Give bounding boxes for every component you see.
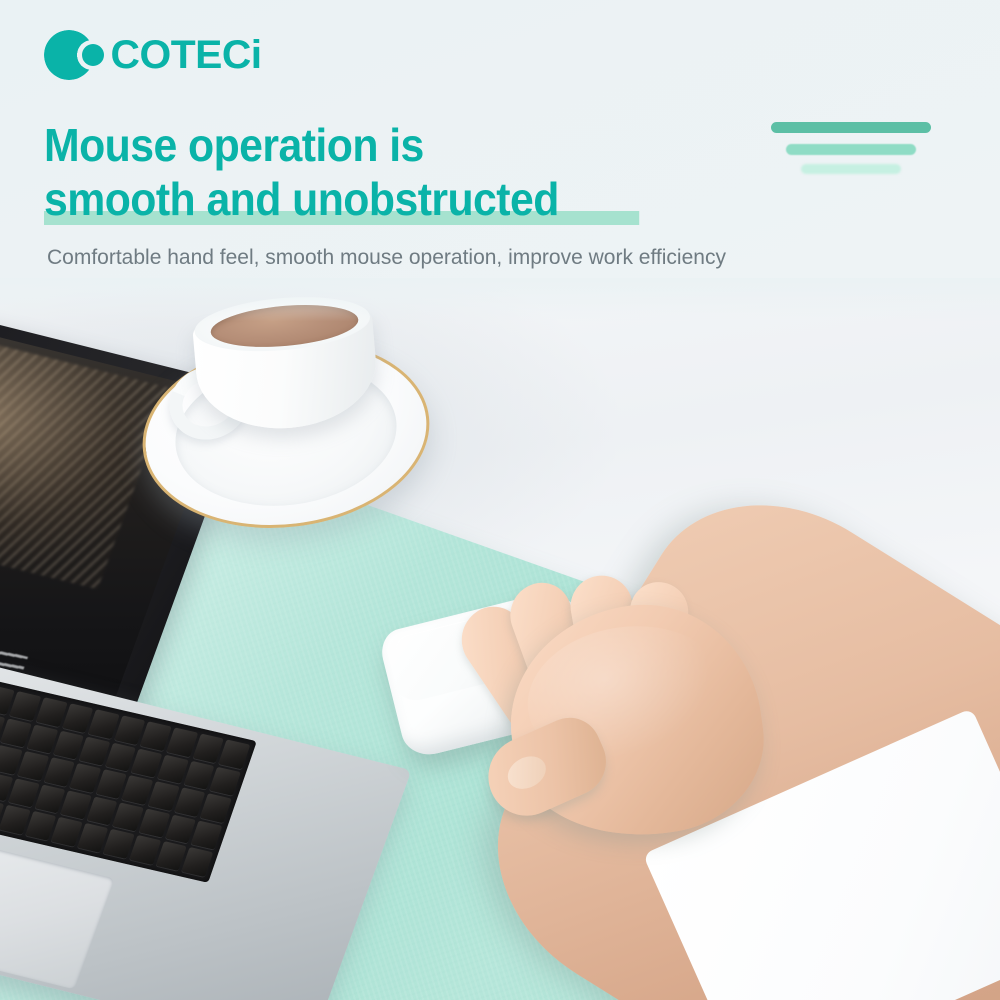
laptop-trackpad: [0, 836, 115, 990]
keyboard-key: [200, 793, 232, 823]
keyboard-key: [8, 778, 40, 808]
subtitle: Comfortable hand feel, smooth mouse oper…: [47, 244, 726, 272]
coteci-circle-logo-icon: [44, 28, 102, 82]
deco-bar-1: [771, 122, 931, 133]
keyboard-key: [26, 724, 58, 754]
brand-name: COTECi: [111, 35, 262, 75]
keyboard-key: [209, 766, 241, 796]
brand-logo: COTECi: [44, 28, 260, 82]
headline-line-2: smooth and unobstructed: [44, 173, 559, 225]
keyboard-key: [17, 751, 49, 781]
deco-bar-3: [801, 164, 901, 174]
coffee-cup: [190, 290, 381, 441]
decorative-bars: [766, 120, 936, 182]
product-banner: COTECi Mouse operation is smooth and uno…: [0, 0, 1000, 1000]
laptop-base: [0, 656, 412, 1000]
keyboard-key: [166, 727, 198, 757]
headline-line-2-wrapper: smooth and unobstructed: [44, 172, 639, 226]
headline: Mouse operation is smooth and unobstruct…: [44, 118, 639, 226]
keyboard-key: [182, 847, 214, 877]
hand-on-mouse: [451, 544, 820, 887]
keyboard-key: [36, 697, 68, 727]
deco-bar-2: [786, 144, 916, 155]
headline-line-1: Mouse operation is: [44, 118, 639, 172]
keyboard-key: [191, 820, 223, 850]
laptop-keyboard: [0, 673, 257, 883]
keyboard-key: [129, 835, 161, 865]
keyboard-key: [219, 739, 251, 769]
product-photo: [0, 278, 1000, 1000]
logo-dot-shape: [82, 44, 104, 66]
keyboard-key: [148, 781, 180, 811]
keyboard-key: [139, 808, 171, 838]
keyboard-key: [0, 805, 30, 835]
keyboard-key: [157, 754, 189, 784]
